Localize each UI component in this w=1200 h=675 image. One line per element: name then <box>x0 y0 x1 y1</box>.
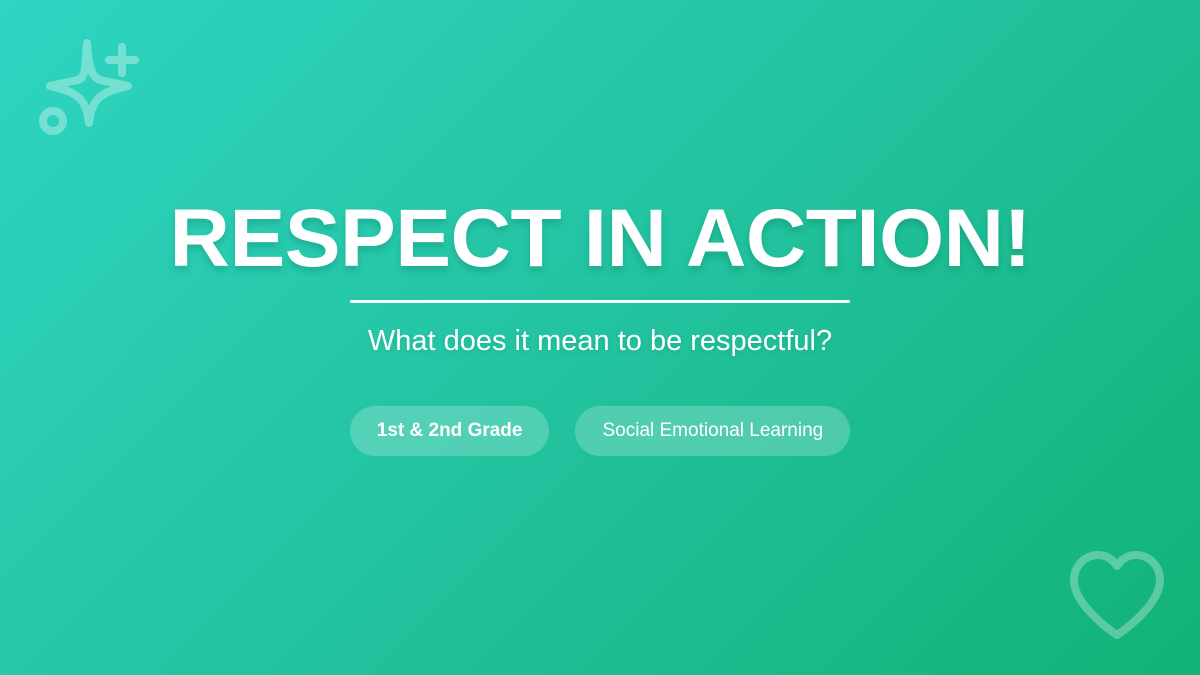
page-title: RESPECT IN ACTION! <box>169 0 1030 281</box>
badge-subject: Social Emotional Learning <box>575 406 850 456</box>
slide-content: RESPECT IN ACTION! What does it mean to … <box>0 0 1200 675</box>
title-divider <box>350 300 850 303</box>
badge-row: 1st & 2nd Grade Social Emotional Learnin… <box>350 406 850 456</box>
slide-subtitle: What does it mean to be respectful? <box>368 303 832 360</box>
heart-icon <box>1062 543 1172 647</box>
title-slide: RESPECT IN ACTION! What does it mean to … <box>0 0 1200 675</box>
badge-grade-level: 1st & 2nd Grade <box>350 406 550 456</box>
